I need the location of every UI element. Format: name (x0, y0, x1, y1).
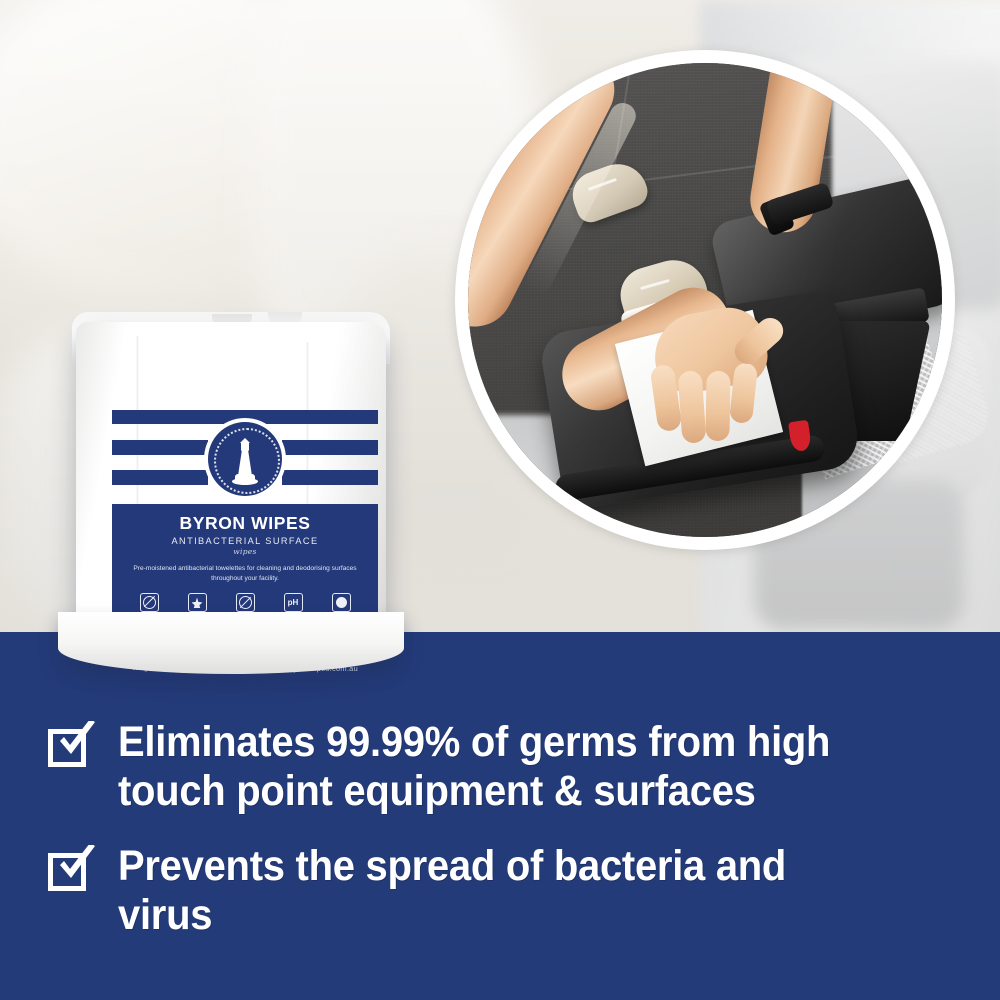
brand-script: wipes (112, 547, 378, 556)
marketing-banner: BYRON WIPES ANTIBACTERIAL SURFACE wipes … (0, 0, 1000, 1000)
check-tick (52, 721, 98, 763)
benefit-item: Prevents the spread of bacteria and viru… (0, 842, 1000, 940)
pack-body: BYRON WIPES ANTIBACTERIAL SURFACE wipes … (76, 322, 386, 652)
photo-inset (468, 63, 942, 537)
label-stripe (112, 440, 208, 455)
check-tick (52, 845, 98, 887)
product-description: Pre-moistened antibacterial towelettes f… (112, 564, 378, 584)
label-stripe (282, 470, 378, 485)
benefit-text: Eliminates 99.99% of germs from high tou… (118, 718, 890, 816)
brand-subtitle: ANTIBACTERIAL SURFACE (112, 536, 378, 546)
checkbox-checked-icon (48, 725, 94, 771)
brand-name: BYRON WIPES (112, 513, 378, 534)
benefit-text: Prevents the spread of bacteria and viru… (118, 842, 890, 940)
benefit-list: Eliminates 99.99% of germs from high tou… (0, 718, 1000, 966)
product-pack: BYRON WIPES ANTIBACTERIAL SURFACE wipes … (62, 312, 400, 672)
checkbox-checked-icon (48, 849, 94, 895)
label-stripe (112, 470, 208, 485)
lighthouse-icon (236, 438, 254, 478)
finger (705, 371, 730, 441)
label-stripe (282, 440, 378, 455)
benefit-item: Eliminates 99.99% of germs from high tou… (0, 718, 1000, 816)
pack-bottom-fold (58, 612, 404, 674)
finger (678, 370, 707, 443)
